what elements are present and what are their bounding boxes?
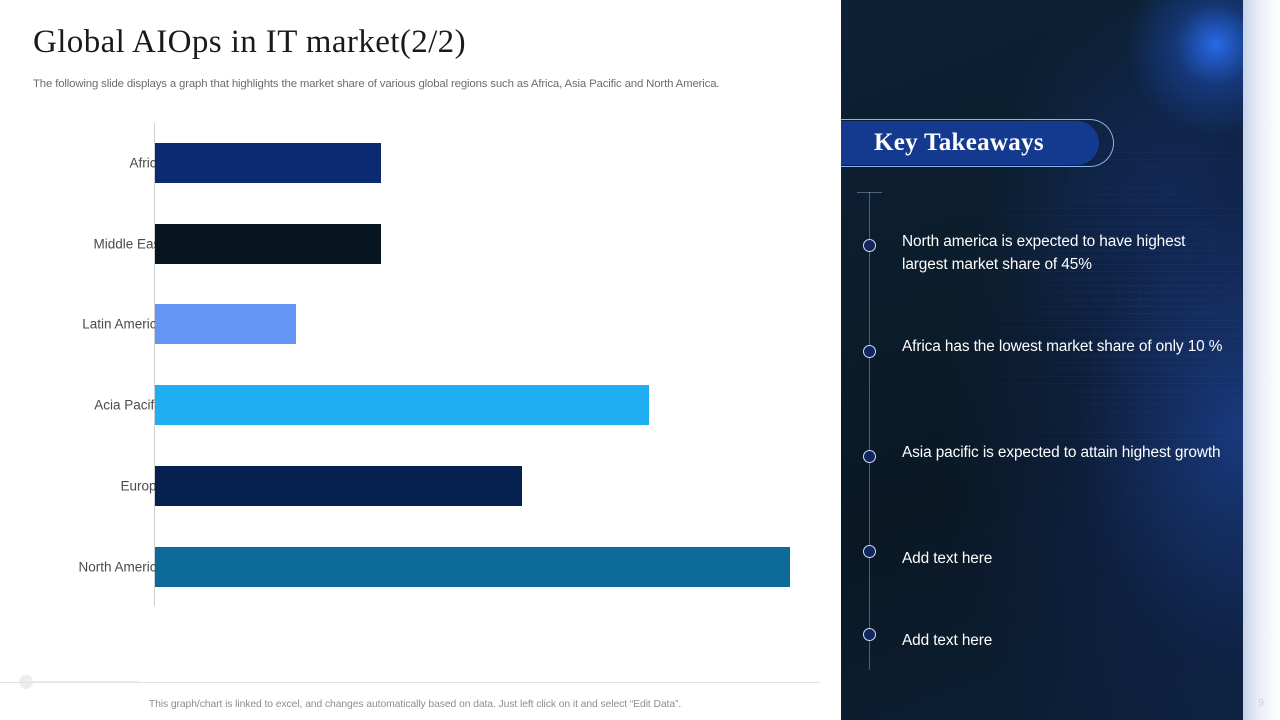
page-title: Global AIOps in IT market(2/2) [33, 24, 466, 61]
panel-right-fade [1243, 0, 1280, 720]
takeaway-text: Asia pacific is expected to attain highe… [902, 441, 1224, 464]
bar[interactable] [155, 224, 381, 264]
bar[interactable] [155, 385, 649, 425]
bar[interactable] [155, 466, 522, 506]
takeaway-bullet-icon [863, 239, 876, 252]
page-subtitle: The following slide displays a graph tha… [33, 78, 719, 90]
timeline-line [869, 192, 870, 670]
content-panel: Global AIOps in IT market(2/2) The follo… [0, 0, 841, 720]
bar[interactable] [155, 304, 296, 344]
bar-row: Latin America [0, 284, 840, 364]
bar-category-label: Acia Pacific [94, 398, 164, 413]
chart-plot-area: AfricaMiddle EastLatin AmericaAcia Pacif… [0, 118, 840, 610]
bar-row: Middle East [0, 204, 840, 284]
takeaway-bullet-icon [863, 628, 876, 641]
bar[interactable] [155, 143, 381, 183]
slide-canvas: Global AIOps in IT market(2/2) The follo… [0, 0, 1280, 720]
bar-category-label: North America [78, 559, 164, 574]
panel-background-texture [841, 0, 1243, 720]
bar[interactable] [155, 547, 790, 587]
bar-row: Africa [0, 123, 840, 203]
takeaway-bullet-icon [863, 450, 876, 463]
bar-row: Europe [0, 446, 840, 526]
page-number: 9 [1258, 697, 1264, 709]
takeaway-bullet-icon [863, 345, 876, 358]
takeaway-text: Africa has the lowest market share of on… [902, 335, 1224, 358]
footer-divider [0, 682, 820, 683]
key-takeaways-panel: Key Takeaways North america is expected … [841, 0, 1280, 720]
footer-note: This graph/chart is linked to excel, and… [0, 699, 830, 710]
bar-chart[interactable]: AfricaMiddle EastLatin AmericaAcia Pacif… [0, 118, 840, 618]
key-takeaways-heading: Key Takeaways [874, 129, 1044, 157]
takeaway-bullet-icon [863, 545, 876, 558]
bar-row: North America [0, 527, 840, 607]
bar-category-label: Middle East [93, 236, 164, 251]
bar-row: Acia Pacific [0, 365, 840, 445]
takeaway-text: Add text here [902, 629, 1224, 652]
bar-category-label: Latin America [82, 317, 164, 332]
takeaway-text: Add text here [902, 547, 1224, 570]
takeaway-text: North america is expected to have highes… [902, 230, 1224, 276]
